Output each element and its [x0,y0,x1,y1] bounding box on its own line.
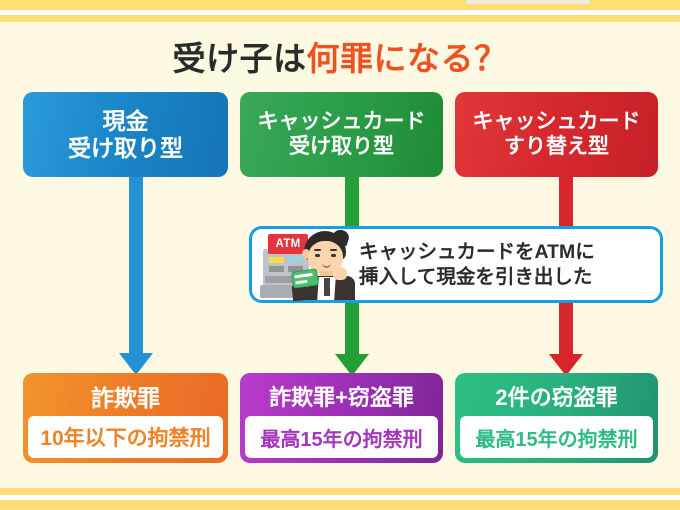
atm-slot-yellow [269,257,284,263]
verdict-box-fraud-plus-theft: 詐欺罪+窃盗罪 最高15年の拘禁刑 [240,373,443,463]
verdict-box-two-counts-theft: 2件の窃盗罪 最高15年の拘禁刑 [455,373,658,463]
atm-slot-grey-1 [269,266,284,272]
category-line2: すり替え型 [504,135,609,159]
person-eyebrow-right [330,249,337,251]
verdict-sentence: 最高15年の拘禁刑 [245,416,438,458]
person-tie [324,278,330,296]
atm-slot-cyan [288,257,303,262]
person-eye-right [331,254,336,257]
verdict-crime-label: 詐欺罪 [26,376,225,416]
category-line1: キャッシュカード [258,110,426,134]
infographic-canvas: 受け子は何罪になる？ 現金 受け取り型 キャッシュカード 受け取り型 キャッシュ… [0,0,680,510]
card-stripe-lower [295,280,307,285]
arrow-cash-to-fraud [116,170,156,380]
callout-text: キャッシュカードをATMに 挿入して現金を引き出した [359,240,595,290]
verdict-crime-label: 詐欺罪+窃盗罪 [243,376,440,416]
verdict-crime-label: 2件の窃盗罪 [458,376,655,416]
person-hand-at-chin [333,267,347,280]
top-right-tab [466,0,590,4]
callout-line1: キャッシュカードをATMに [359,240,595,265]
callout-atm-withdrawal: ATM キャッシュカードをATMに 挿入して現金を引き出した [249,226,663,303]
bottom-band-lower [0,500,680,510]
top-band-lower [0,15,680,22]
category-line2: 受け取り型 [68,135,183,162]
page-title-accent: 何罪になる？ [307,40,508,77]
cash-card-icon [291,268,319,288]
category-line2: 受け取り型 [289,135,394,159]
callout-line2: 挿入して現金を引き出した [359,265,595,290]
bottom-band-upper [0,488,680,495]
category-line1: 現金 [103,108,149,135]
category-box-cash-receipt: 現金 受け取り型 [23,92,228,177]
arrow-shaft [129,170,143,355]
verdict-sentence: 最高15年の拘禁刑 [460,416,653,458]
person-eye-left [315,254,320,257]
arrow-head [119,353,153,375]
page-title-lead: 受け子は [173,40,307,77]
verdict-sentence: 10年以下の拘禁刑 [28,416,223,458]
atm-person-illustration: ATM [259,229,355,300]
verdict-box-fraud: 詐欺罪 10年以下の拘禁刑 [23,373,228,463]
category-box-card-swap: キャッシュカード すり替え型 [455,92,658,177]
page-title: 受け子は何罪になる？ [0,32,680,80]
category-box-card-receipt: キャッシュカード 受け取り型 [240,92,443,177]
card-stripe-upper [294,273,312,278]
category-line1: キャッシュカード [473,110,641,134]
person-eyebrow-left [314,249,321,251]
